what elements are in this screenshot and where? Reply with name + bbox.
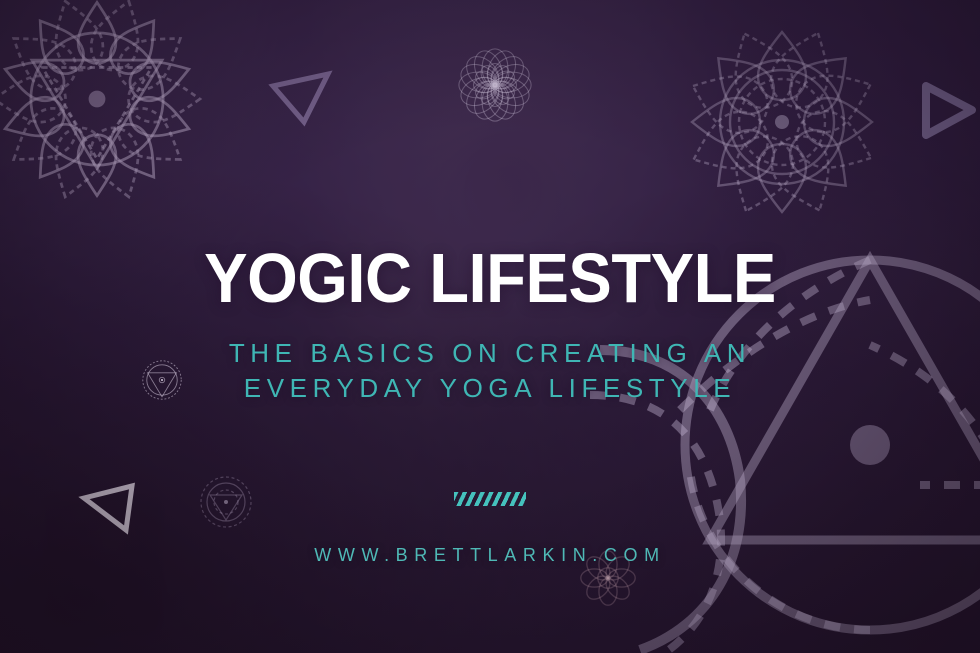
subtitle-line-2: EVERYDAY YOGA LIFESTYLE [0, 371, 980, 406]
website-url: WWW.BRETTLARKIN.COM [0, 545, 980, 566]
banner-content: YOGIC LIFESTYLE THE BASICS ON CREATING A… [0, 0, 980, 653]
striped-divider [454, 492, 526, 506]
subtitle-line-1: THE BASICS ON CREATING AN [0, 336, 980, 371]
page-title: YOGIC LIFESTYLE [34, 243, 945, 313]
yoga-course-banner: YOGIC LIFESTYLE THE BASICS ON CREATING A… [0, 0, 980, 653]
page-subtitle: THE BASICS ON CREATING AN EVERYDAY YOGA … [0, 336, 980, 406]
